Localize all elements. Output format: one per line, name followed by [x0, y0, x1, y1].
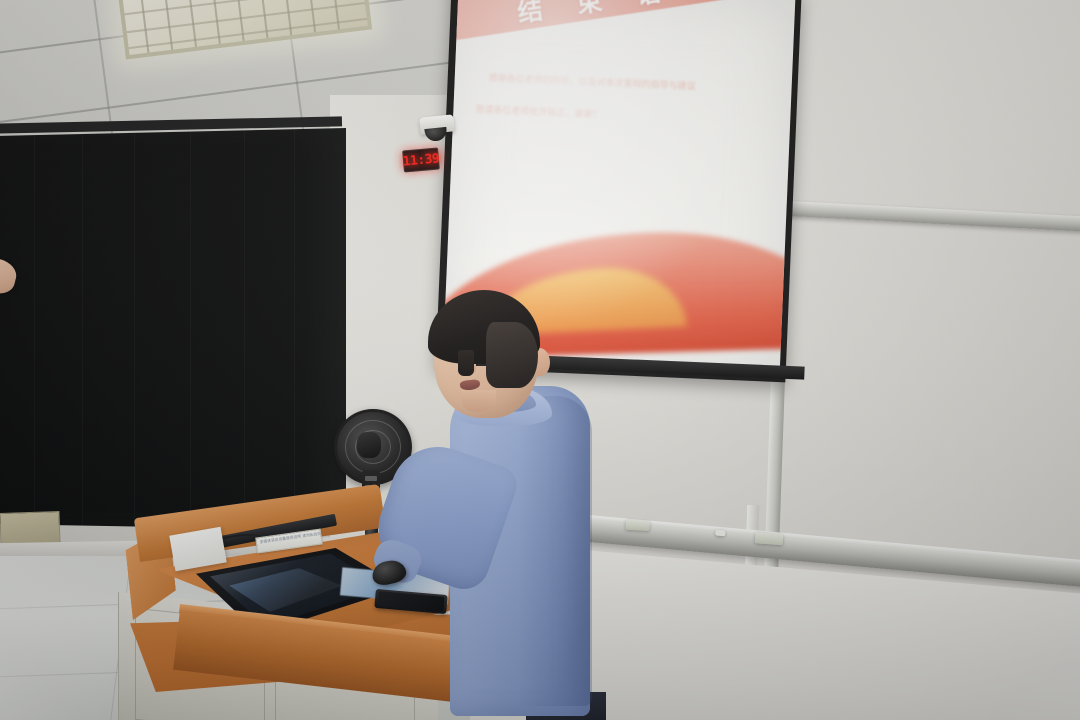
blackout-curtain[interactable]	[0, 128, 346, 528]
chalk-eraser[interactable]	[625, 520, 650, 531]
presenter-hair-side	[486, 322, 538, 388]
presenter-sideburn	[458, 350, 474, 376]
presenter-sweater-shading	[518, 396, 592, 706]
presenter-chin	[462, 390, 496, 412]
fan-motor-hub	[357, 432, 381, 458]
presenter	[398, 300, 628, 720]
chalk-eraser[interactable]	[755, 532, 784, 545]
classroom-photo: 结 束 语 感谢各位老师的聆听，以及对本次答辩的指导与建议 恳请各位老师批评指正…	[0, 0, 1080, 720]
led-clock-digits: 11:39	[402, 151, 440, 169]
led-clock: 11:39	[402, 147, 440, 172]
chalk-piece[interactable]	[715, 529, 726, 536]
chalkboard	[790, 0, 1080, 606]
wall-vent-plate	[0, 511, 61, 545]
